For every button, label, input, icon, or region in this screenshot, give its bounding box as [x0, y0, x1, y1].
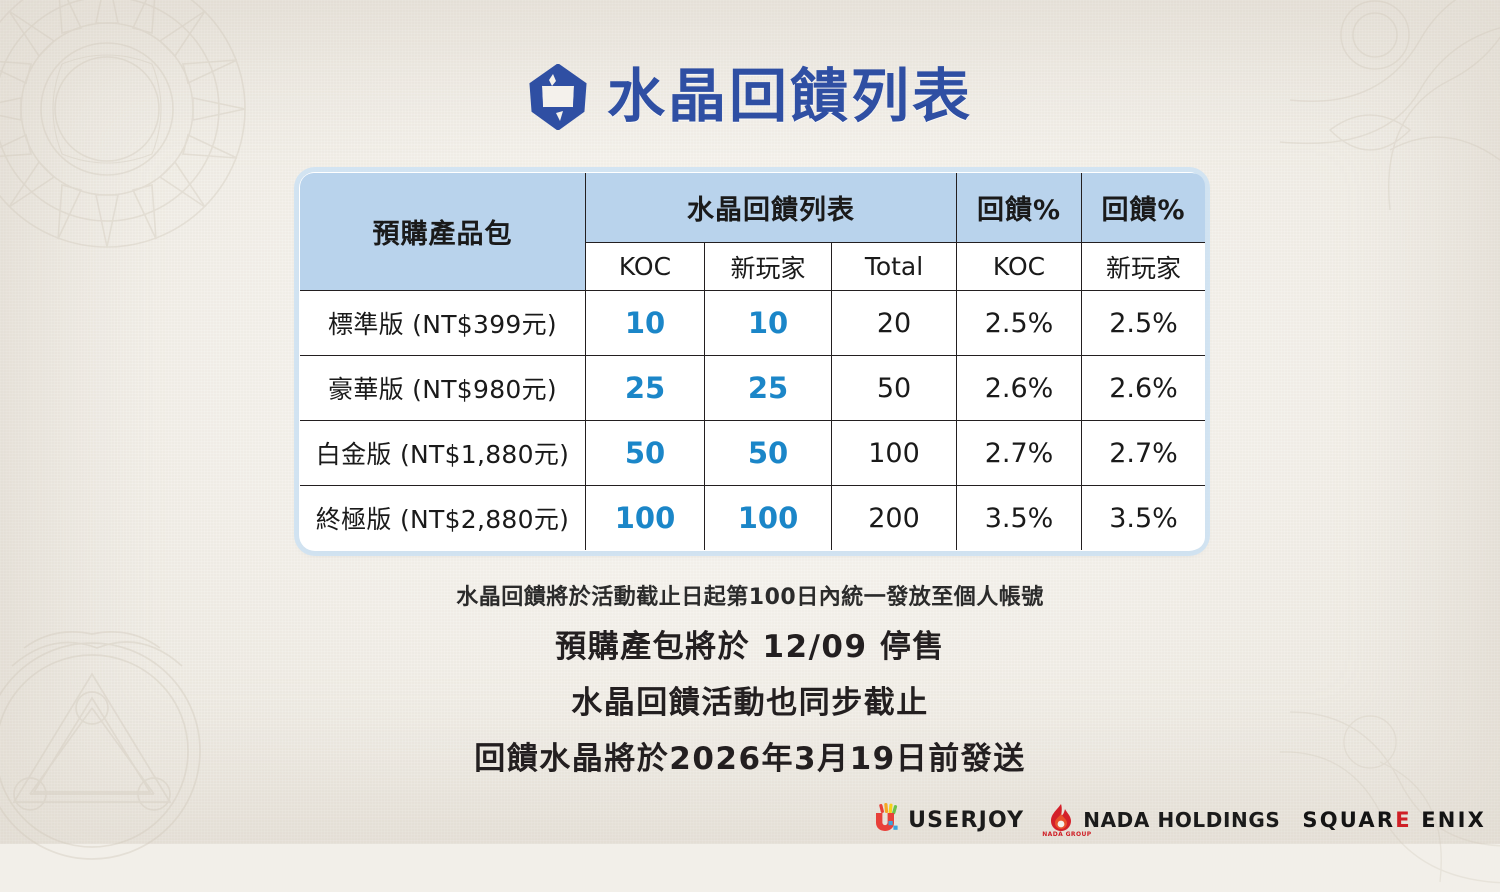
cell-total: 100: [832, 421, 957, 486]
cell-pct-koc: 2.6%: [957, 356, 1082, 421]
header-package-column: 預購產品包: [300, 173, 586, 291]
header-pct-koc-group: 回饋%: [957, 173, 1082, 243]
page-title: 水晶回饋列表: [607, 67, 973, 125]
square-enix-wordmark: SQUARE ENIX: [1302, 808, 1486, 832]
subheader-pct-newbie: 新玩家: [1082, 243, 1206, 291]
table-row: 終極版 (NT$2,880元) 100 100 200 3.5% 3.5%: [300, 486, 1206, 551]
se-part-a: SQUAR: [1302, 808, 1395, 832]
crystal-gem-icon: [527, 64, 589, 130]
cell-package: 終極版 (NT$2,880元): [300, 486, 586, 551]
square-enix-logo: SQUARE ENIX: [1302, 808, 1486, 832]
cell-package: 標準版 (NT$399元): [300, 291, 586, 356]
userjoy-logo: USERJOY: [871, 802, 1024, 838]
cell-total: 50: [832, 356, 957, 421]
notes-block: 水晶回饋將於活動截止日起第100日內統一發放至個人帳號 預購產包將於 12/09…: [0, 586, 1500, 800]
cell-koc: 25: [586, 356, 705, 421]
cell-newbie: 10: [705, 291, 832, 356]
se-part-e: E: [1395, 808, 1412, 832]
cell-koc: 10: [586, 291, 705, 356]
cell-pct-newbie: 2.6%: [1082, 356, 1206, 421]
cell-koc: 50: [586, 421, 705, 486]
cell-newbie: 100: [705, 486, 832, 551]
nada-holdings-logo: NADA GROUP NADA HOLDINGS: [1046, 803, 1280, 837]
cell-koc: 100: [586, 486, 705, 551]
userjoy-mark-icon: [871, 802, 901, 838]
nada-flame-icon: NADA GROUP: [1046, 803, 1076, 837]
cell-pct-newbie: 2.7%: [1082, 421, 1206, 486]
nada-wordmark: NADA HOLDINGS: [1083, 808, 1280, 832]
cell-pct-koc: 2.5%: [957, 291, 1082, 356]
rebate-table: 預購產品包 水晶回饋列表 回饋% 回饋% KOC 新玩家 Total KOC 新…: [299, 172, 1206, 551]
note-sale-end: 預購產包將於 12/09 停售: [0, 632, 1500, 663]
cell-pct-koc: 3.5%: [957, 486, 1082, 551]
cell-pct-newbie: 3.5%: [1082, 486, 1206, 551]
table-row: 豪華版 (NT$980元) 25 25 50 2.6% 2.6%: [300, 356, 1206, 421]
note-send-date: 回饋水晶將於2026年3月19日前發送: [0, 744, 1500, 775]
table-row: 白金版 (NT$1,880元) 50 50 100 2.7% 2.7%: [300, 421, 1206, 486]
se-part-c: ENIX: [1412, 808, 1486, 832]
table-row: 標準版 (NT$399元) 10 10 20 2.5% 2.5%: [300, 291, 1206, 356]
subheader-total: Total: [832, 243, 957, 291]
subheader-pct-koc: KOC: [957, 243, 1082, 291]
cell-pct-newbie: 2.5%: [1082, 291, 1206, 356]
header-pct-newbie-group: 回饋%: [1082, 173, 1206, 243]
page-title-row: 水晶回饋列表: [0, 62, 1500, 130]
cell-total: 20: [832, 291, 957, 356]
cell-package: 豪華版 (NT$980元): [300, 356, 586, 421]
cell-newbie: 50: [705, 421, 832, 486]
subheader-koc: KOC: [586, 243, 705, 291]
subheader-newbie: 新玩家: [705, 243, 832, 291]
cell-package: 白金版 (NT$1,880元): [300, 421, 586, 486]
crystal-rebate-table: 預購產品包 水晶回饋列表 回饋% 回饋% KOC 新玩家 Total KOC 新…: [299, 172, 1205, 551]
nada-group-sublabel: NADA GROUP: [1042, 831, 1091, 838]
cell-pct-koc: 2.7%: [957, 421, 1082, 486]
cell-newbie: 25: [705, 356, 832, 421]
table-header-row-main: 預購產品包 水晶回饋列表 回饋% 回饋%: [300, 173, 1206, 243]
footer-logo-bar: USERJOY NADA GROUP NADA HOLDINGS SQUARE …: [871, 802, 1486, 838]
note-campaign-end: 水晶回饋活動也同步截止: [0, 688, 1500, 719]
header-crystal-group: 水晶回饋列表: [586, 173, 957, 243]
cell-total: 200: [832, 486, 957, 551]
userjoy-wordmark: USERJOY: [908, 808, 1024, 833]
note-delivery: 水晶回饋將於活動截止日起第100日內統一發放至個人帳號: [0, 586, 1500, 610]
